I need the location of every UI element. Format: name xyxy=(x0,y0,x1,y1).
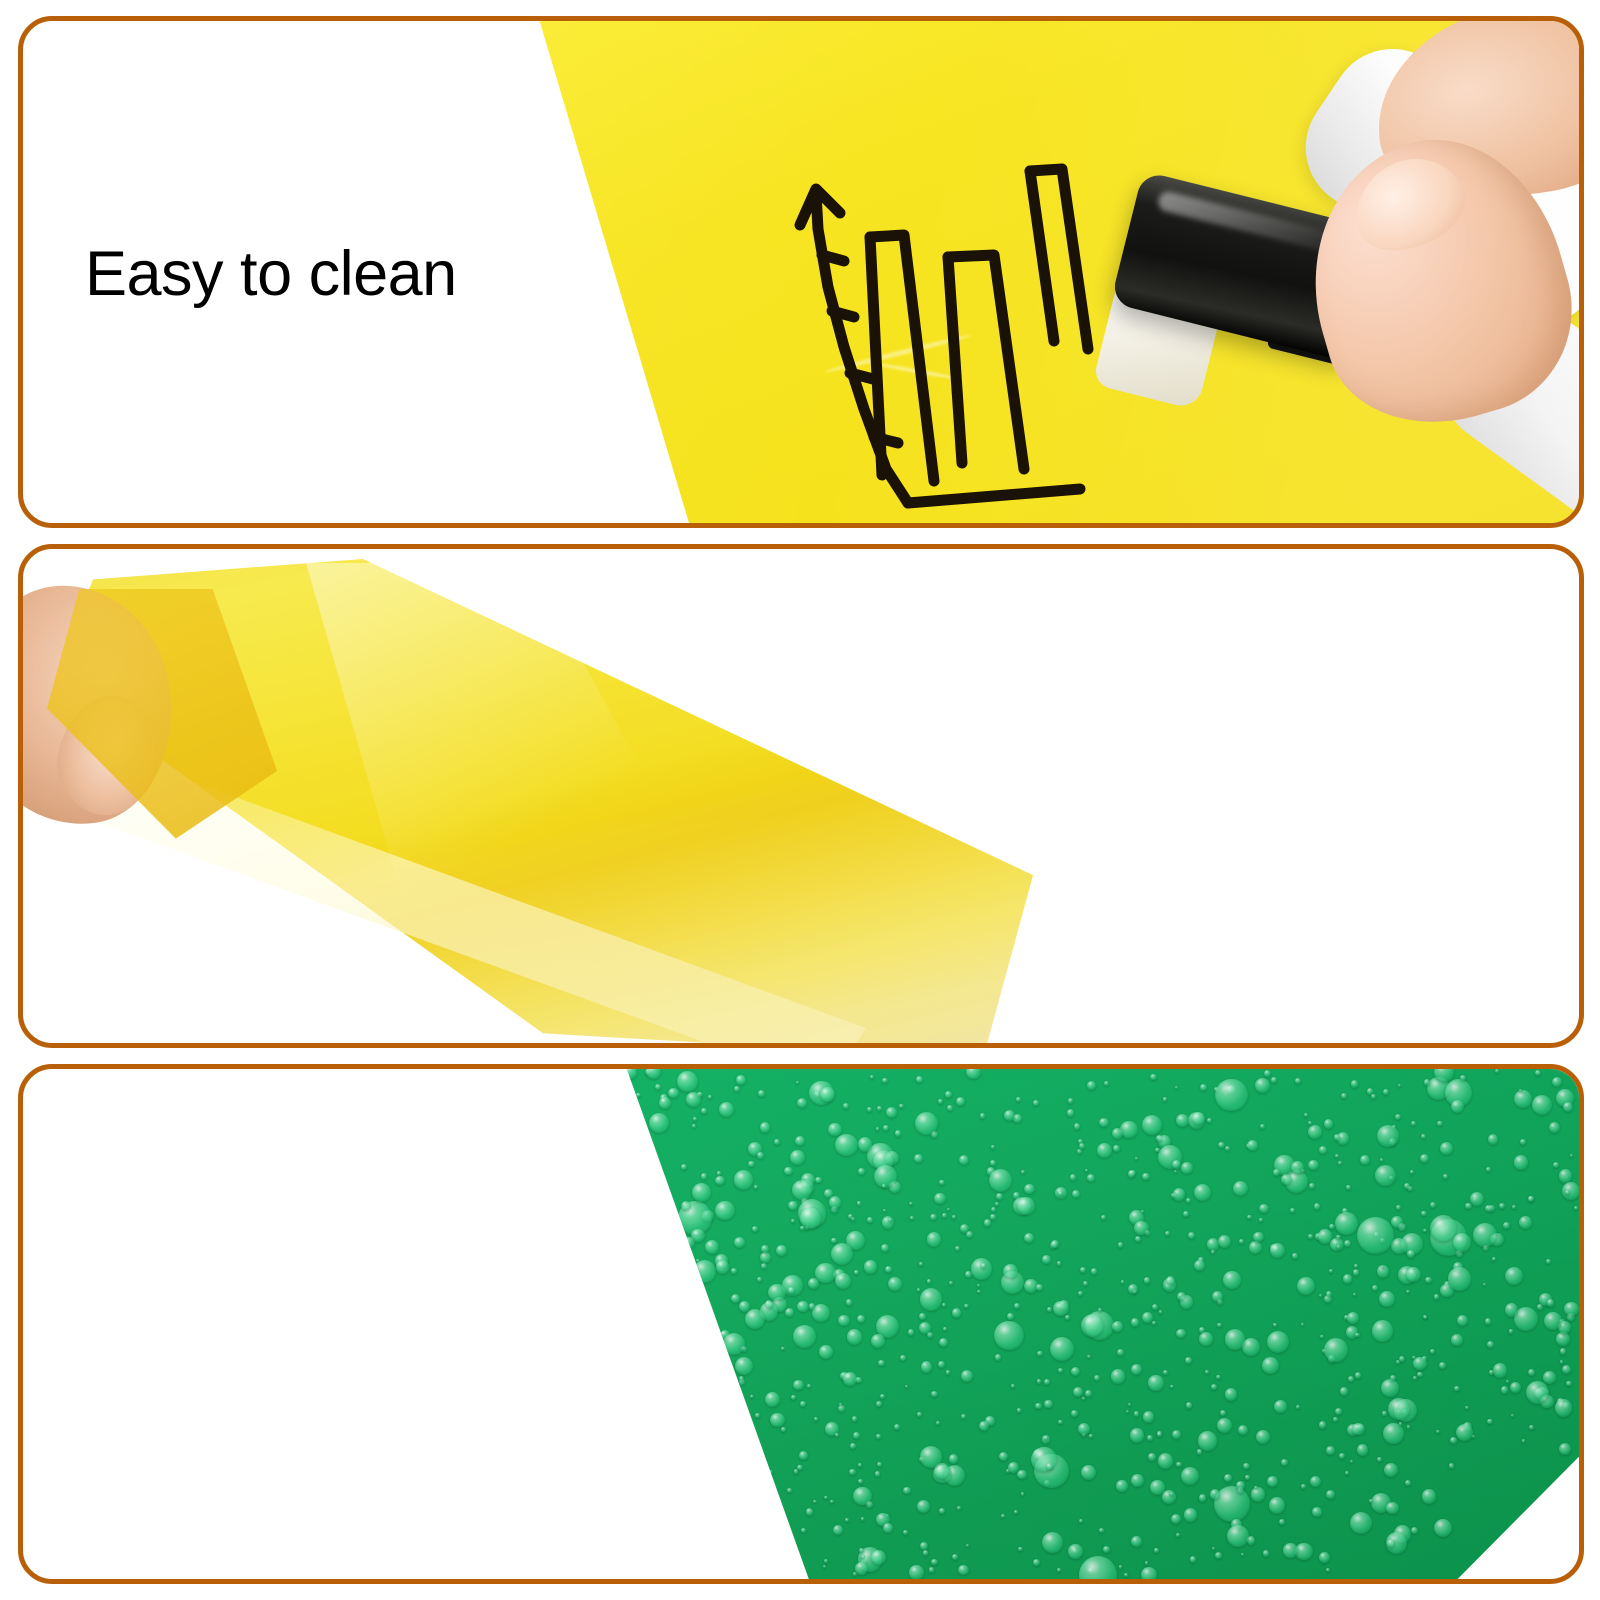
feature-panel-resilient: Resilient and not easily broken xyxy=(18,544,1584,1048)
water-droplet xyxy=(700,1318,708,1326)
panel-caption-easy-to-clean: Easy to clean xyxy=(85,239,457,310)
water-droplet xyxy=(635,1162,648,1175)
water-droplet xyxy=(756,1442,759,1445)
feature-panel-waterproof: Acrylic material has good waterproof pro… xyxy=(18,1064,1584,1584)
water-droplet xyxy=(687,1251,690,1254)
water-droplet xyxy=(675,1231,679,1235)
feature-panel-easy-to-clean: Easy to clean xyxy=(18,16,1584,528)
flexing-acrylic-strip-group xyxy=(23,549,1579,1043)
water-droplet xyxy=(640,1162,654,1176)
infographic-root: Easy to clean Resilient and not easily b… xyxy=(0,0,1600,1600)
water-droplet xyxy=(702,1315,706,1319)
green-acrylic-sheet xyxy=(23,1069,1579,1579)
water-droplet xyxy=(636,1175,642,1181)
water-droplet xyxy=(624,1114,629,1119)
water-droplet xyxy=(609,1126,612,1129)
water-droplet xyxy=(618,1126,628,1136)
water-droplet xyxy=(609,1093,618,1102)
water-droplet xyxy=(694,1296,707,1309)
marker-bar-chart-drawing xyxy=(758,151,1158,511)
